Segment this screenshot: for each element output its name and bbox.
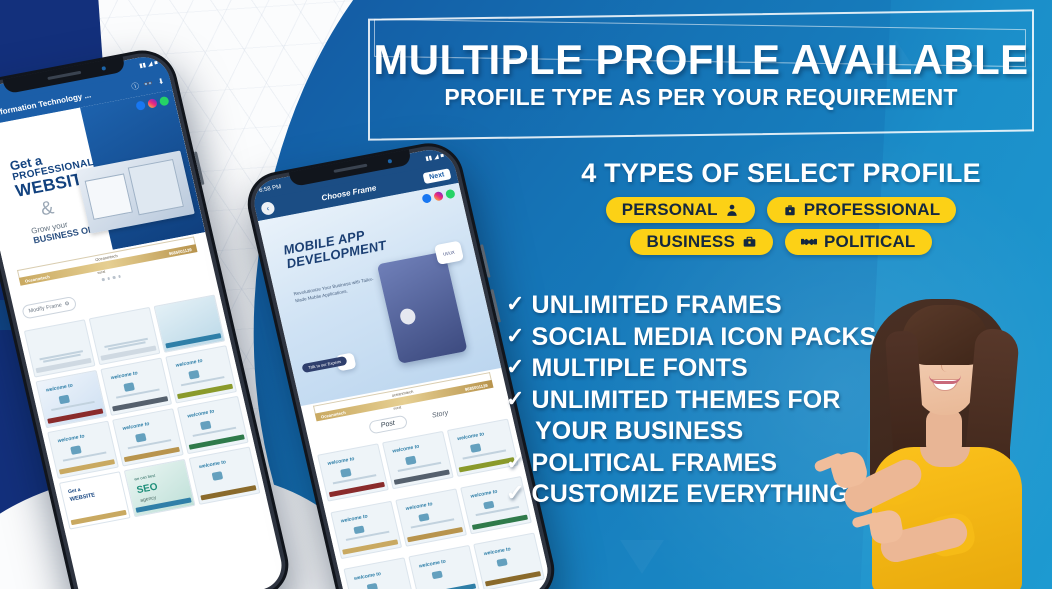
battery-icon: ■ — [154, 60, 159, 67]
banner-subtitle: PROFILE TYPE AS PER YOUR REQUIREMENT — [444, 84, 957, 111]
tab-story[interactable]: Story — [431, 409, 449, 419]
template-thumbnail[interactable]: welcome to — [317, 443, 389, 501]
dot — [118, 275, 121, 278]
thumb-label: welcome to — [187, 409, 215, 420]
template-thumbnail-website[interactable]: Get a WEBSITE — [59, 471, 131, 529]
promo-banner: 6:59 PM ▮▮ ◢ ■ ‹ Information Technology … — [0, 0, 1052, 589]
frame-brand: Oceanmtech — [320, 409, 346, 419]
thumb-label: welcome to — [175, 358, 203, 369]
handshake-icon — [801, 235, 817, 249]
front-camera — [101, 66, 106, 71]
check-icon: ✓ — [506, 448, 525, 477]
badge-business[interactable]: BUSINESS — [630, 229, 773, 255]
feature-label: POLITICAL FRAMES — [532, 448, 778, 479]
feature-label: UNLIMITED FRAMES — [532, 290, 782, 321]
profile-types-section: 4 TYPES OF SELECT PROFILE PERSONAL — [566, 158, 996, 255]
seo-line3: agency — [140, 494, 157, 503]
thumb-label: welcome to — [353, 571, 381, 582]
template-thumbnail[interactable]: welcome to — [35, 370, 107, 428]
frame-logo-text: surat — [97, 270, 106, 275]
dot — [107, 277, 110, 280]
glasses-icon[interactable]: 👓 — [143, 79, 154, 90]
modify-frame-label: Modify Frame — [28, 302, 62, 314]
phone2-poster[interactable]: MOBILE APP DEVELOPMENT Revolutionize You… — [258, 183, 501, 406]
template-thumbnail[interactable] — [154, 294, 226, 352]
dot — [101, 278, 104, 281]
earpiece-speaker — [333, 164, 367, 173]
model-photo-woman-pointing — [836, 289, 1052, 589]
signal-icon: ▮▮ — [425, 154, 433, 162]
types-heading: 4 TYPES OF SELECT PROFILE — [566, 158, 996, 189]
status-time: 6:58 PM — [259, 184, 282, 194]
check-icon: ✓ — [506, 385, 525, 414]
badge-personal[interactable]: PERSONAL — [606, 197, 755, 223]
template-thumbnail[interactable]: welcome to — [112, 408, 184, 466]
wifi-icon: ◢ — [147, 60, 153, 68]
download-icon[interactable]: ⬇ — [157, 76, 165, 86]
signal-icon: ▮▮ — [139, 62, 147, 70]
frame-phone: 9685001139 — [168, 247, 192, 256]
thumb-label: welcome to — [340, 514, 368, 525]
template-thumbnail[interactable]: welcome to — [382, 431, 454, 489]
template-thumbnail[interactable]: welcome to — [177, 396, 249, 454]
whatsapp-icon — [159, 96, 170, 106]
frame-phone: 9685001139 — [464, 382, 488, 391]
suitcase-icon — [742, 235, 757, 249]
person-icon — [725, 203, 739, 217]
briefcase-icon — [783, 203, 797, 217]
check-icon: ✓ — [506, 479, 525, 508]
feature-label: SOCIAL MEDIA ICON PACKS — [532, 322, 877, 353]
badge-political[interactable]: POLITICAL — [785, 229, 932, 255]
seo-line1: we can best — [134, 473, 156, 482]
badge-row: BUSINESS POLITICAL — [630, 229, 931, 255]
model-lips — [929, 375, 961, 384]
status-indicators: ▮▮ ◢ ■ — [139, 59, 159, 69]
thumb-label: welcome to — [418, 558, 446, 569]
poster-social-icons — [421, 189, 455, 204]
check-icon: ✓ — [506, 322, 525, 351]
thumb-label: welcome to — [405, 501, 433, 512]
frame-brand: Oceanmtech — [24, 274, 50, 284]
gear-icon: ⚙ — [64, 301, 70, 308]
dot — [112, 276, 115, 279]
template-thumbnail[interactable]: welcome to — [165, 345, 237, 403]
info-icon[interactable]: ⓘ — [130, 80, 140, 92]
poster-pagination-dots — [101, 275, 120, 281]
status-indicators: ▮▮ ◢ ■ — [425, 152, 445, 162]
badge-label: BUSINESS — [646, 232, 735, 252]
background-triangle — [620, 540, 664, 574]
template-thumbnail[interactable]: welcome to — [408, 545, 480, 589]
badge-label: PERSONAL — [622, 200, 718, 220]
instagram-icon — [147, 98, 158, 108]
thumb-label: welcome to — [470, 489, 498, 500]
feature-label: MULTIPLE FONTS — [532, 353, 748, 384]
front-camera — [387, 159, 392, 164]
thumb-label: welcome to — [57, 434, 85, 445]
badge-label: POLITICAL — [824, 232, 916, 252]
template-thumbnail[interactable]: welcome to — [330, 500, 402, 558]
next-button[interactable]: Next — [422, 168, 451, 184]
template-thumbnail[interactable]: welcome to — [47, 421, 119, 479]
badge-professional[interactable]: PROFESSIONAL — [767, 197, 957, 223]
facebook-icon — [135, 100, 146, 110]
poster-chip-uiux: UI/UX — [434, 241, 464, 265]
template-thumbnail[interactable]: welcome to — [100, 358, 172, 416]
thumb-label: welcome to — [327, 456, 355, 467]
thumb-label: welcome to — [199, 460, 227, 471]
instagram-icon — [433, 191, 444, 201]
poster-body: Revolutionize Your Business with Tailor-… — [293, 276, 380, 305]
profile-type-badges: PERSONAL PROFESSIONAL — [566, 197, 996, 255]
tab-post[interactable]: Post — [368, 414, 408, 434]
thumb-label: welcome to — [45, 383, 73, 394]
frame-logo-text: surat — [393, 405, 402, 410]
feature-label: CUSTOMIZE EVERYTHING — [532, 479, 849, 510]
template-thumbnail[interactable] — [24, 319, 96, 377]
template-thumbnail-seo[interactable]: we can best SEO agency — [124, 459, 196, 517]
thumb-label: welcome to — [392, 444, 420, 455]
whatsapp-icon — [445, 189, 456, 199]
feature-label: UNLIMITED THEMES FOR — [532, 385, 841, 416]
facebook-icon — [421, 193, 432, 203]
thumb-label: welcome to — [457, 432, 485, 443]
thumb-label: welcome to — [110, 371, 138, 382]
template-thumbnail[interactable]: welcome to — [344, 558, 416, 589]
poster-app-mockup — [377, 251, 468, 364]
badge-row: PERSONAL PROFESSIONAL — [606, 197, 957, 223]
template-thumbnail[interactable]: welcome to — [189, 446, 261, 504]
badge-label: PROFESSIONAL — [804, 200, 941, 220]
thumb-label: welcome to — [122, 421, 150, 432]
wifi-icon: ◢ — [433, 153, 439, 161]
template-thumbnail[interactable]: welcome to — [473, 533, 545, 589]
poster-title: MOBILE APP DEVELOPMENT — [282, 224, 388, 272]
battery-icon: ■ — [440, 153, 445, 160]
template-thumbnail[interactable] — [89, 307, 161, 365]
header-banner: MULTIPLE PROFILE AVAILABLE PROFILE TYPE … — [368, 14, 1034, 136]
banner-title: MULTIPLE PROFILE AVAILABLE — [373, 39, 1028, 82]
thumb-label: welcome to — [483, 546, 511, 557]
feature-label: YOUR BUSINESS — [535, 416, 743, 447]
back-icon[interactable]: ‹ — [260, 201, 276, 216]
template-thumbnail[interactable]: welcome to — [395, 488, 467, 546]
check-icon: ✓ — [506, 290, 525, 319]
check-icon: ✓ — [506, 353, 525, 382]
earpiece-speaker — [47, 71, 81, 80]
